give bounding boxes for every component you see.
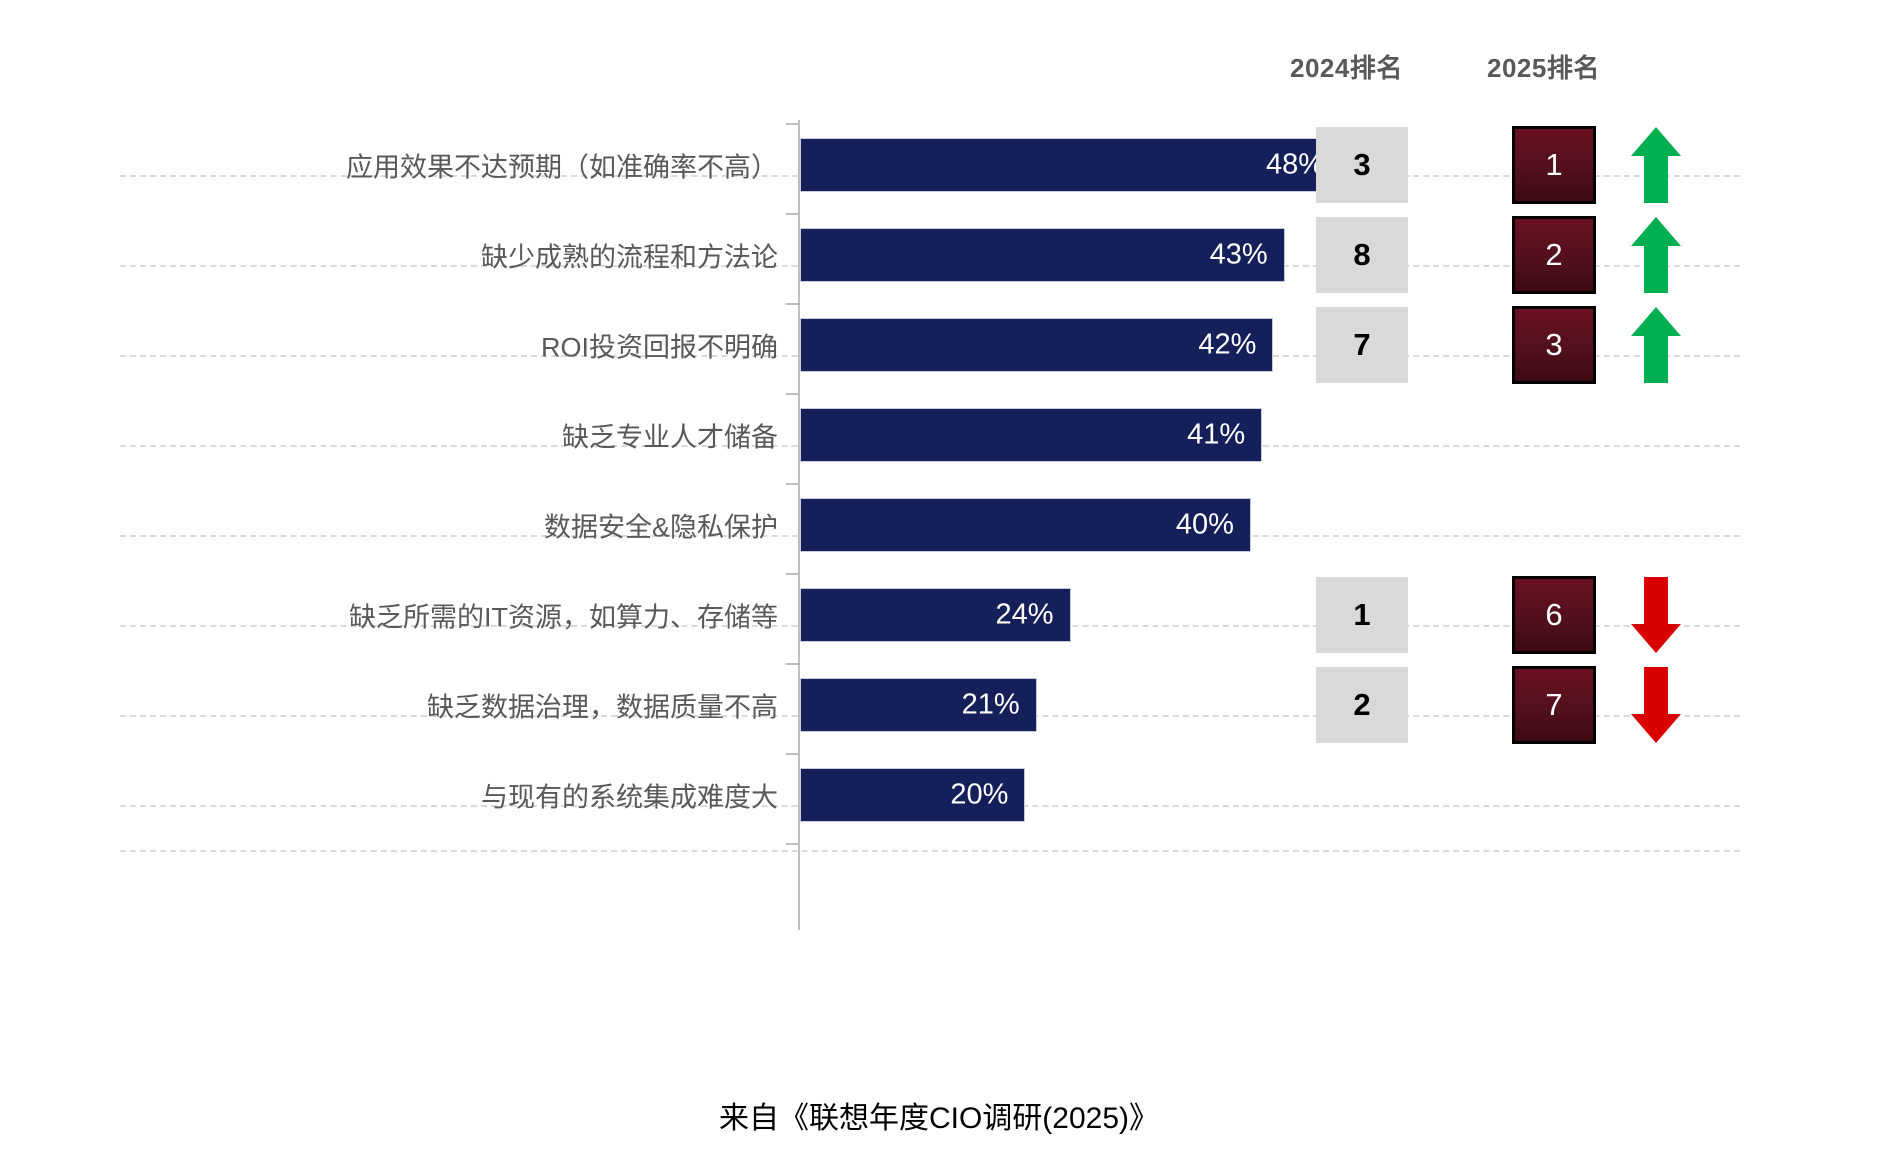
chart-row: 缺少成熟的流程和方法论43%82 [0,210,1878,300]
bar-value-label: 42% [1198,329,1256,362]
category-label: 与现有的系统集成难度大 [481,776,778,815]
chart-row: 与现有的系统集成难度大20% [0,750,1878,840]
rank-2025-badge: 1 [1512,126,1596,204]
trend-up-arrow-icon [1630,125,1682,205]
source-caption: 来自《联想年度CIO调研(2025)》 [0,1093,1878,1137]
chart-row: 应用效果不达预期（如准确率不高）48%31 [0,120,1878,210]
value-bar: 42% [800,318,1273,372]
category-label: 数据安全&隐私保护 [544,506,778,545]
rank-2025-badge: 3 [1512,306,1596,384]
rank-2024-badge: 7 [1316,307,1408,383]
gridline [120,850,1740,852]
category-label: 缺乏所需的IT资源，如算力、存储等 [349,596,778,635]
header-rank-2025: 2025排名 [1487,48,1600,85]
rank-2024-badge: 1 [1316,577,1408,653]
category-label: ROI投资回报不明确 [541,326,778,365]
bar-value-label: 20% [950,779,1008,812]
chart-row: 缺乏所需的IT资源，如算力、存储等24%16 [0,570,1878,660]
category-label: 缺乏数据治理，数据质量不高 [427,686,778,725]
chart-row: 缺乏专业人才储备41% [0,390,1878,480]
rank-2025-badge: 7 [1512,666,1596,744]
bar-value-label: 41% [1187,419,1245,452]
value-bar: 48% [800,138,1341,192]
trend-down-arrow-icon [1630,665,1682,745]
value-bar: 40% [800,498,1251,552]
column-headers: 2024排名 2025排名 [0,48,1878,88]
bar-value-label: 21% [962,689,1020,722]
chart-row: 缺乏数据治理，数据质量不高21%27 [0,660,1878,750]
axis-tick [786,843,798,845]
rank-2025-badge: 6 [1512,576,1596,654]
rank-2024-badge: 2 [1316,667,1408,743]
trend-down-arrow-icon [1630,575,1682,655]
trend-up-arrow-icon [1630,215,1682,295]
value-bar: 24% [800,588,1071,642]
category-label: 缺少成熟的流程和方法论 [481,236,778,275]
bar-value-label: 24% [995,599,1053,632]
rank-2024-badge: 3 [1316,127,1408,203]
chart-row: 数据安全&隐私保护40% [0,480,1878,570]
category-label: 缺乏专业人才储备 [562,416,778,455]
value-bar: 21% [800,678,1037,732]
trend-up-arrow-icon [1630,305,1682,385]
value-bar: 43% [800,228,1285,282]
chart-row: ROI投资回报不明确42%73 [0,300,1878,390]
value-bar: 41% [800,408,1262,462]
header-rank-2024: 2024排名 [1290,48,1403,85]
rank-2025-badge: 2 [1512,216,1596,294]
bar-value-label: 43% [1210,239,1268,272]
category-label: 应用效果不达预期（如准确率不高） [346,146,778,185]
bar-value-label: 40% [1176,509,1234,542]
rank-2024-badge: 8 [1316,217,1408,293]
horizontal-bar-chart: 应用效果不达预期（如准确率不高）48%31缺少成熟的流程和方法论43%82ROI… [0,120,1878,940]
value-bar: 20% [800,768,1025,822]
